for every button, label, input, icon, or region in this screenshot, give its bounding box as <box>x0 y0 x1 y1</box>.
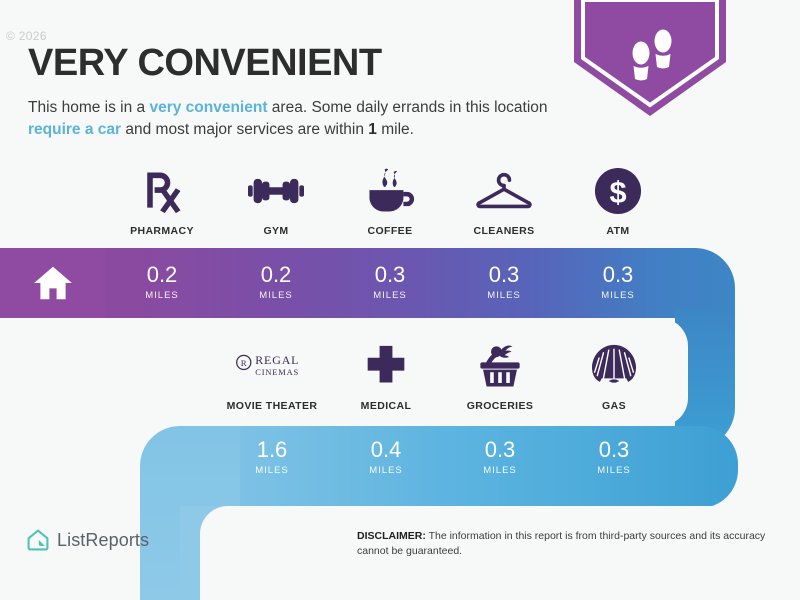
summary-part-1: This home is in a <box>28 99 149 116</box>
footprints-shield-icon <box>570 0 730 118</box>
pharmacy-rx-icon <box>138 165 186 217</box>
page-title: VERY CONVENIENT <box>28 44 382 82</box>
gym-dumbbell-icon <box>248 165 304 217</box>
copyright-notice: © 2026 <box>6 29 47 43</box>
distance-unit: MILES <box>597 465 631 476</box>
distance-unit: MILES <box>601 290 635 301</box>
gas-shell-icon <box>591 340 637 392</box>
distance-cell: 1.6 MILES <box>215 426 329 488</box>
amenity-cleaners: CLEANERS <box>447 165 561 237</box>
listreports-logo: ListReports <box>26 528 149 552</box>
summary-part-3: and most major services are within <box>121 121 368 138</box>
coffee-cup-icon <box>365 165 415 217</box>
distance-unit: MILES <box>373 290 407 301</box>
distance-cell: 0.3 MILES <box>557 426 671 488</box>
amenity-movie-theater: R REGAL CINEMAS MOVIE THEATER <box>215 340 329 412</box>
amenity-label: GROCERIES <box>467 400 534 412</box>
svg-text:R: R <box>241 358 247 368</box>
svg-text:CINEMAS: CINEMAS <box>255 368 299 377</box>
amenity-groceries: GROCERIES <box>443 340 557 412</box>
summary-text: This home is in a very convenient area. … <box>28 97 573 141</box>
distance-unit: MILES <box>255 465 289 476</box>
amenity-label: GYM <box>263 225 288 237</box>
amenity-medical: MEDICAL <box>329 340 443 412</box>
groceries-basket-icon <box>475 340 525 392</box>
amenity-label: PHARMACY <box>130 225 194 237</box>
distance-value: 0.2 <box>261 264 292 286</box>
disclaimer-label: DISCLAIMER: <box>357 530 426 542</box>
distance-value: 0.3 <box>375 264 406 286</box>
amenity-label: COFFEE <box>368 225 413 237</box>
amenity-label: MOVIE THEATER <box>227 400 318 412</box>
summary-part-4: mile. <box>377 121 414 138</box>
summary-part-2: area. Some daily errands in this locatio… <box>268 99 548 116</box>
medical-cross-icon <box>364 340 408 392</box>
disclaimer: DISCLAIMER: The information in this repo… <box>357 529 787 559</box>
amenity-label: ATM <box>606 225 629 237</box>
amenity-icon-row-bottom: R REGAL CINEMAS MOVIE THEATER MEDICAL <box>215 340 671 412</box>
distance-unit: MILES <box>145 290 179 301</box>
distance-cell: 0.2 MILES <box>219 251 333 313</box>
cleaners-hanger-icon <box>475 165 533 217</box>
distance-value: 0.4 <box>371 439 402 461</box>
distance-unit: MILES <box>259 290 293 301</box>
house-icon <box>0 248 105 318</box>
atm-dollar-icon: $ <box>594 165 642 217</box>
distance-value: 0.2 <box>147 264 178 286</box>
amenity-coffee: COFFEE <box>333 165 447 237</box>
summary-emphasis-3: 1 <box>368 121 377 138</box>
regal-cinemas-logo: R REGAL CINEMAS <box>234 340 310 392</box>
amenity-label: MEDICAL <box>361 400 412 412</box>
svg-text:$: $ <box>609 175 626 210</box>
listreports-wordmark: ListReports <box>57 530 149 551</box>
amenity-label: GAS <box>602 400 626 412</box>
amenity-gas: GAS <box>557 340 671 412</box>
distance-row-bottom: 1.6 MILES 0.4 MILES 0.3 MILES 0.3 MILES <box>215 426 671 488</box>
distance-value: 1.6 <box>257 439 288 461</box>
distance-value: 0.3 <box>485 439 516 461</box>
distance-unit: MILES <box>483 465 517 476</box>
amenity-icon-row-top: PHARMACY GYM <box>105 165 675 237</box>
distance-value: 0.3 <box>603 264 634 286</box>
distance-cell: 0.2 MILES <box>105 251 219 313</box>
distance-row-top: 0.2 MILES 0.2 MILES 0.3 MILES 0.3 MILES … <box>105 251 675 313</box>
summary-emphasis-1: very convenient <box>149 99 267 116</box>
distance-cell: 0.3 MILES <box>561 251 675 313</box>
distance-value: 0.3 <box>599 439 630 461</box>
distance-unit: MILES <box>487 290 521 301</box>
amenity-pharmacy: PHARMACY <box>105 165 219 237</box>
distance-cell: 0.3 MILES <box>447 251 561 313</box>
amenity-gym: GYM <box>219 165 333 237</box>
distance-cell: 0.3 MILES <box>333 251 447 313</box>
distance-cell: 0.3 MILES <box>443 426 557 488</box>
distance-cell: 0.4 MILES <box>329 426 443 488</box>
amenity-label: CLEANERS <box>474 225 535 237</box>
distance-unit: MILES <box>369 465 403 476</box>
distance-value: 0.3 <box>489 264 520 286</box>
infographic-page: © 2026 VERY CONVENIENT This home is in a… <box>0 0 800 600</box>
listreports-house-icon <box>26 528 50 552</box>
summary-emphasis-2: require a car <box>28 121 121 138</box>
svg-text:REGAL: REGAL <box>255 353 299 367</box>
amenity-atm: $ ATM <box>561 165 675 237</box>
